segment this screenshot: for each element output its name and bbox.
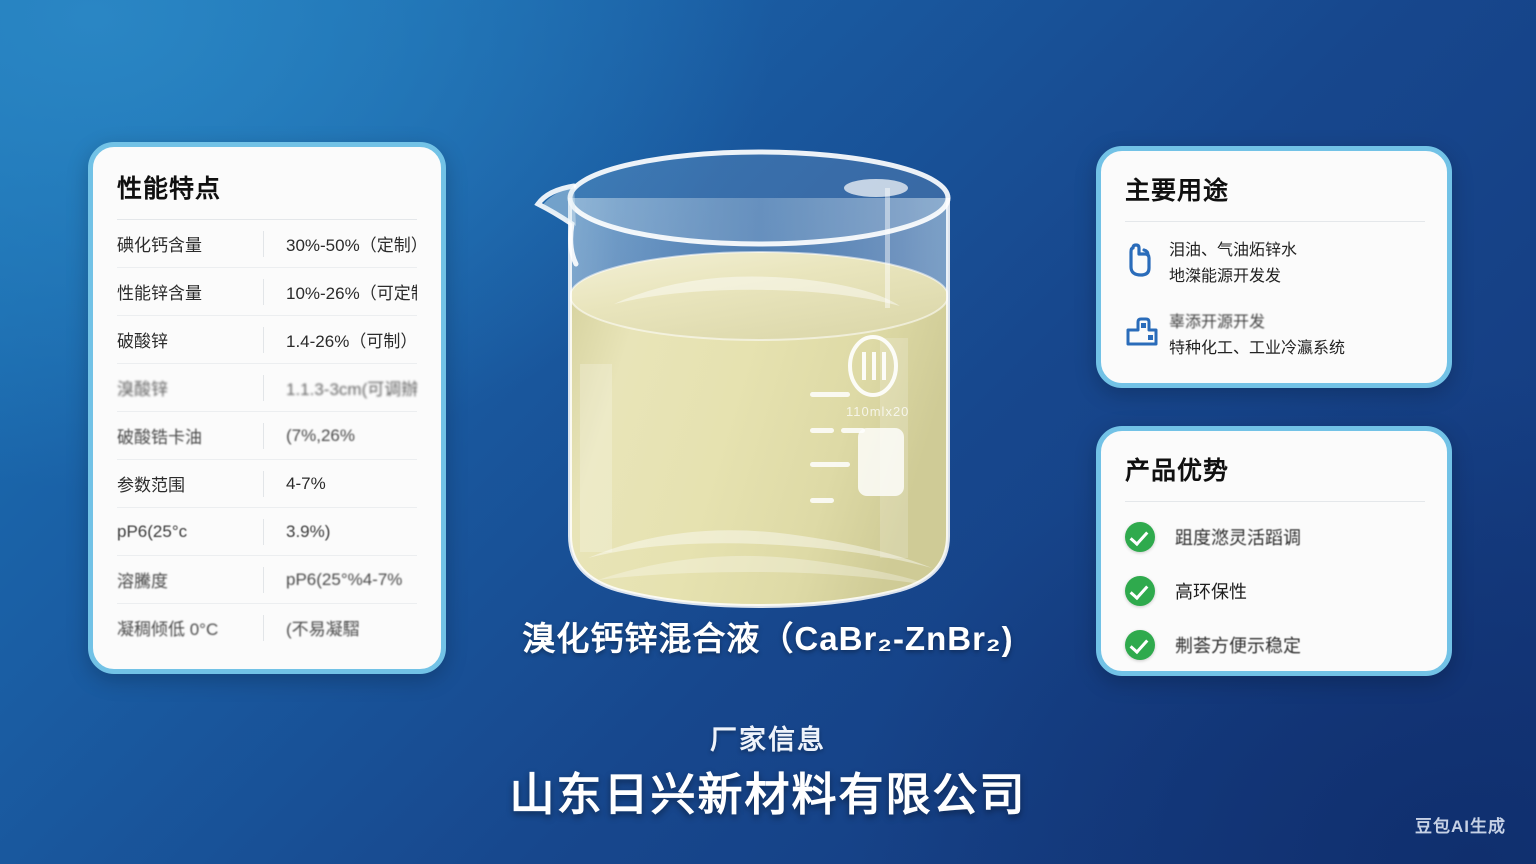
spec-row: 溴酸锌1.1.3-3cm(可调辦	[117, 364, 417, 412]
main-usage-card: 主要用途 泪油、气油炻锌水 地滐能源开发发	[1096, 146, 1452, 388]
spec-row: 破酸锌1.4-26%（可制）	[117, 316, 417, 364]
product-caption: 溴化钙锌混合液（CaBr₂-ZnBr₂)	[0, 612, 1536, 660]
spec-row-key: 溴酸锌	[117, 375, 263, 400]
spec-row-key: 溶騰度	[117, 567, 263, 592]
manufacturer-label: 厂家信息	[0, 718, 1536, 757]
spec-row-key: 参数范围	[117, 471, 263, 496]
advantage-item: 跙度滺灵活蹈调	[1125, 522, 1425, 552]
spec-row: 碘化钙含量30%-50%（定制）	[117, 220, 417, 268]
spec-row: 溶騰度pP6(25°%4-7%	[117, 556, 417, 604]
performance-spec-card: 性能特点 碘化钙含量30%-50%（定制）性能锌含量10%-26%（可定制破酸锌…	[88, 142, 446, 674]
usage-item-text: 泪油、气油炻锌水 地滐能源开发发	[1169, 238, 1297, 290]
advantage-item: 高环保性	[1125, 576, 1425, 606]
usage-card-title: 主要用途	[1125, 171, 1425, 207]
spec-row-key: pP6(25°c	[117, 522, 263, 542]
spec-row-value: 3.9%)	[264, 522, 330, 542]
advantage-title-divider	[1125, 501, 1425, 502]
manufacturer-name: 山东日兴新材料有限公司	[0, 758, 1536, 823]
factory-icon	[1125, 310, 1169, 353]
usage-item: 泪油、气油炻锌水 地滐能源开发发	[1125, 238, 1425, 290]
spec-row-value: pP6(25°%4-7%	[264, 570, 402, 590]
ai-watermark: 豆包AI生成	[1415, 812, 1506, 837]
spec-row-value: 1.4-26%（可制）	[264, 327, 417, 352]
spec-row: 性能锌含量10%-26%（可定制	[117, 268, 417, 316]
check-circle-icon	[1125, 576, 1155, 606]
beaker-liquid-group: 110mlx20	[570, 252, 948, 606]
advantage-card-title: 产品优势	[1125, 451, 1425, 487]
spec-row-value: 30%-50%（定制）	[264, 231, 417, 256]
spec-table: 碘化钙含量30%-50%（定制）性能锌含量10%-26%（可定制破酸锌1.4-2…	[117, 220, 417, 651]
usage-list: 泪油、气油炻锌水 地滐能源开发发 辜添开源开发 特种化工、工	[1125, 238, 1425, 362]
usage-line-1: 辜添开源开发	[1169, 314, 1265, 331]
spec-row-key: 性能锌含量	[117, 279, 263, 304]
spec-row-value: (7%,26%	[264, 426, 355, 446]
spec-card-title: 性能特点	[117, 169, 417, 205]
usage-card-inner: 主要用途 泪油、气油炻锌水 地滐能源开发发	[1101, 151, 1447, 362]
usage-line-2: 地滐能源开发发	[1169, 264, 1297, 290]
oil-drop-icon	[1125, 238, 1169, 285]
usage-line-1: 泪油、气油炻锌水	[1169, 242, 1297, 259]
spec-row-key: 破酸锌	[117, 327, 263, 352]
beaker-with-yellow-liquid: 110mlx20	[528, 128, 990, 614]
beaker-label-patch	[858, 428, 904, 496]
spec-row-value: 10%-26%（可定制	[264, 279, 417, 304]
usage-title-divider	[1125, 221, 1425, 222]
usage-item-text: 辜添开源开发 特种化工、工业冷瀛系统	[1169, 310, 1345, 362]
poster-canvas: 性能特点 碘化钙含量30%-50%（定制）性能锌含量10%-26%（可定制破酸锌…	[0, 0, 1536, 864]
spec-row: 参数范围4-7%	[117, 460, 417, 508]
glass-vertical-highlight	[885, 188, 890, 308]
spec-row: pP6(25°c3.9%)	[117, 508, 417, 556]
advantage-item-label: 高环保性	[1175, 578, 1247, 604]
beaker-illustration: 110mlx20	[528, 128, 990, 614]
spec-row: 破酸锆卡油(7%,26%	[117, 412, 417, 460]
spec-row-value: 4-7%	[264, 474, 326, 494]
spec-row-key: 破酸锆卡油	[117, 423, 263, 448]
usage-line-2: 特种化工、工业冷瀛系统	[1169, 336, 1345, 362]
left-wall-sheen	[580, 364, 612, 552]
advantage-item-label: 跙度滺灵活蹈调	[1175, 524, 1301, 550]
spec-row-key: 碘化钙含量	[117, 231, 263, 256]
spec-row-value: 1.1.3-3cm(可调辦	[264, 375, 417, 400]
spec-card-inner: 性能特点 碘化钙含量30%-50%（定制）性能锌含量10%-26%（可定制破酸锌…	[93, 147, 441, 651]
beaker-mouth	[570, 152, 948, 244]
beaker-brand-text: 110mlx20	[846, 404, 909, 419]
usage-item: 辜添开源开发 特种化工、工业冷瀛系统	[1125, 310, 1425, 362]
check-circle-icon	[1125, 522, 1155, 552]
rim-highlight	[844, 179, 908, 197]
